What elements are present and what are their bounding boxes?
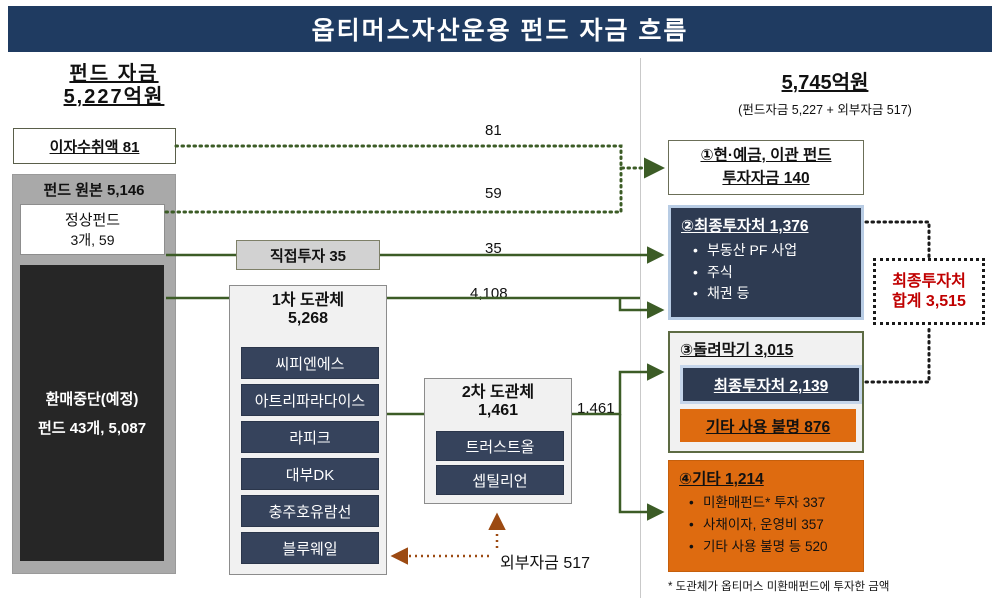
conduit1-amount: 5,268 xyxy=(230,310,386,328)
halted-fund-line2: 펀드 43개, 5,087 xyxy=(38,417,146,438)
total-amount: 5,745억원 xyxy=(660,66,990,95)
conduit2-title: 2차 도관체 xyxy=(425,384,571,402)
wire-59 xyxy=(166,168,621,212)
fund-principal-header: 펀드 원본 5,146 xyxy=(13,179,175,200)
normal-fund-box: 정상펀드 3개, 59 xyxy=(20,204,165,255)
diagram-canvas: 옵티머스자산운용 펀드 자금 흐름 펀드 자금 5,227억원 이자수취액 81… xyxy=(0,0,1000,602)
conduit2-box: 2차 도관체 1,461 트러스트올 셉틸리언 xyxy=(424,378,572,504)
conduit1-header: 1차 도관체 5,268 xyxy=(230,292,386,329)
conduit1-item-3: 대부DK xyxy=(241,458,379,490)
result-box-4-item-2: 기타 사용 불명 등 520 xyxy=(693,536,863,558)
wire-4108 xyxy=(387,298,662,310)
flow-label-59: 59 xyxy=(485,185,502,202)
result-box-2-item-2: 채권 등 xyxy=(697,283,861,305)
result-box-4-header: ④기타 1,214 xyxy=(679,467,863,489)
left-headline-line2: 5,227억원 xyxy=(24,86,204,109)
callout-line2: 합계 3,515 xyxy=(892,292,966,311)
direct-investment-label: 직접투자 35 xyxy=(270,245,346,266)
right-headline: 5,745억원 (펀드자금 5,227 + 외부자금 517) xyxy=(660,66,990,118)
result-box-1-line1: ①현·예금, 이관 펀드 xyxy=(700,145,831,167)
wire-callout-box3 xyxy=(866,325,929,382)
flow-label-35: 35 xyxy=(485,240,502,257)
result-box-2-final-investment: ②최종투자처 1,376 부동산 PF 사업 주식 채권 등 xyxy=(668,205,864,320)
interest-receipt-label: 이자수취액 81 xyxy=(50,136,140,157)
left-headline-line1: 펀드 자금 xyxy=(24,63,204,86)
wire-callout-box2 xyxy=(866,222,929,258)
normal-fund-line1: 정상펀드 xyxy=(65,209,120,230)
result-box-3-rollover: ③돌려막기 3,015 최종투자처 2,139 기타 사용 불명 876 xyxy=(668,331,864,453)
wire-1461 xyxy=(572,372,662,512)
conduit1-item-0: 씨피엔에스 xyxy=(241,347,379,379)
flow-label-4108: 4,108 xyxy=(470,285,508,302)
total-breakdown: (펀드자금 5,227 + 외부자금 517) xyxy=(660,99,990,118)
result-box-1-cash-deposit: ①현·예금, 이관 펀드 투자자금 140 xyxy=(668,140,864,195)
conduit1-item-2: 라피크 xyxy=(241,421,379,453)
callout-line1: 최종투자처 xyxy=(892,272,966,291)
page-title-bar: 옵티머스자산운용 펀드 자금 흐름 xyxy=(8,6,992,52)
conduit1-item-4: 충주호유람선 xyxy=(241,495,379,527)
result-box-2-item-0: 부동산 PF 사업 xyxy=(697,240,861,262)
flow-label-1461: 1,461 xyxy=(577,400,615,417)
result-box-2-list: 부동산 PF 사업 주식 채권 등 xyxy=(681,240,861,305)
result-box-3-header: ③돌려막기 3,015 xyxy=(680,338,862,360)
left-headline: 펀드 자금 5,227억원 xyxy=(24,63,204,109)
final-investment-total-callout: 최종투자처 합계 3,515 xyxy=(873,258,985,325)
result-box-2-header: ②최종투자처 1,376 xyxy=(681,214,861,236)
result-box-1-line2: 투자자금 140 xyxy=(722,168,809,190)
conduit1-item-5: 블루웨일 xyxy=(241,532,379,564)
conduit2-amount: 1,461 xyxy=(425,402,571,420)
result-box-4-list: 미환매펀드* 투자 337 사채이자, 운영비 357 기타 사용 불명 등 5… xyxy=(679,492,863,558)
interest-receipt-box: 이자수취액 81 xyxy=(13,128,176,164)
conduit1-box: 1차 도관체 5,268 씨피엔에스 아트리파라다이스 라피크 대부DK 충주호… xyxy=(229,285,387,575)
result-box-3-unknown-use: 기타 사용 불명 876 xyxy=(680,409,856,442)
result-box-4-item-1: 사채이자, 운영비 357 xyxy=(693,514,863,536)
conduit2-item-0: 트러스트올 xyxy=(436,431,564,461)
footnote: * 도관체가 옵티머스 미환매펀드에 투자한 금액 xyxy=(668,578,889,594)
direct-investment-box: 직접투자 35 xyxy=(236,240,380,270)
result-box-4-other: ④기타 1,214 미환매펀드* 투자 337 사채이자, 운영비 357 기타… xyxy=(668,460,864,572)
wire-81 xyxy=(176,146,662,168)
result-box-2-item-1: 주식 xyxy=(697,262,861,284)
flow-label-81: 81 xyxy=(485,122,502,139)
conduit2-header: 2차 도관체 1,461 xyxy=(425,384,571,421)
halted-fund-box: 환매중단(예정) 펀드 43개, 5,087 xyxy=(20,265,164,561)
page-title: 옵티머스자산운용 펀드 자금 흐름 xyxy=(312,11,689,47)
column-divider xyxy=(640,58,641,598)
external-fund-label: 외부자금 517 xyxy=(500,549,590,573)
conduit2-item-1: 셉틸리언 xyxy=(436,465,564,495)
normal-fund-line2: 3개, 59 xyxy=(70,230,114,250)
halted-fund-line1: 환매중단(예정) xyxy=(46,388,139,409)
conduit1-title: 1차 도관체 xyxy=(230,292,386,310)
result-box-3-final-investment: 최종투자처 2,139 xyxy=(680,365,862,404)
result-box-4-item-0: 미환매펀드* 투자 337 xyxy=(693,492,863,514)
conduit1-item-1: 아트리파라다이스 xyxy=(241,384,379,416)
